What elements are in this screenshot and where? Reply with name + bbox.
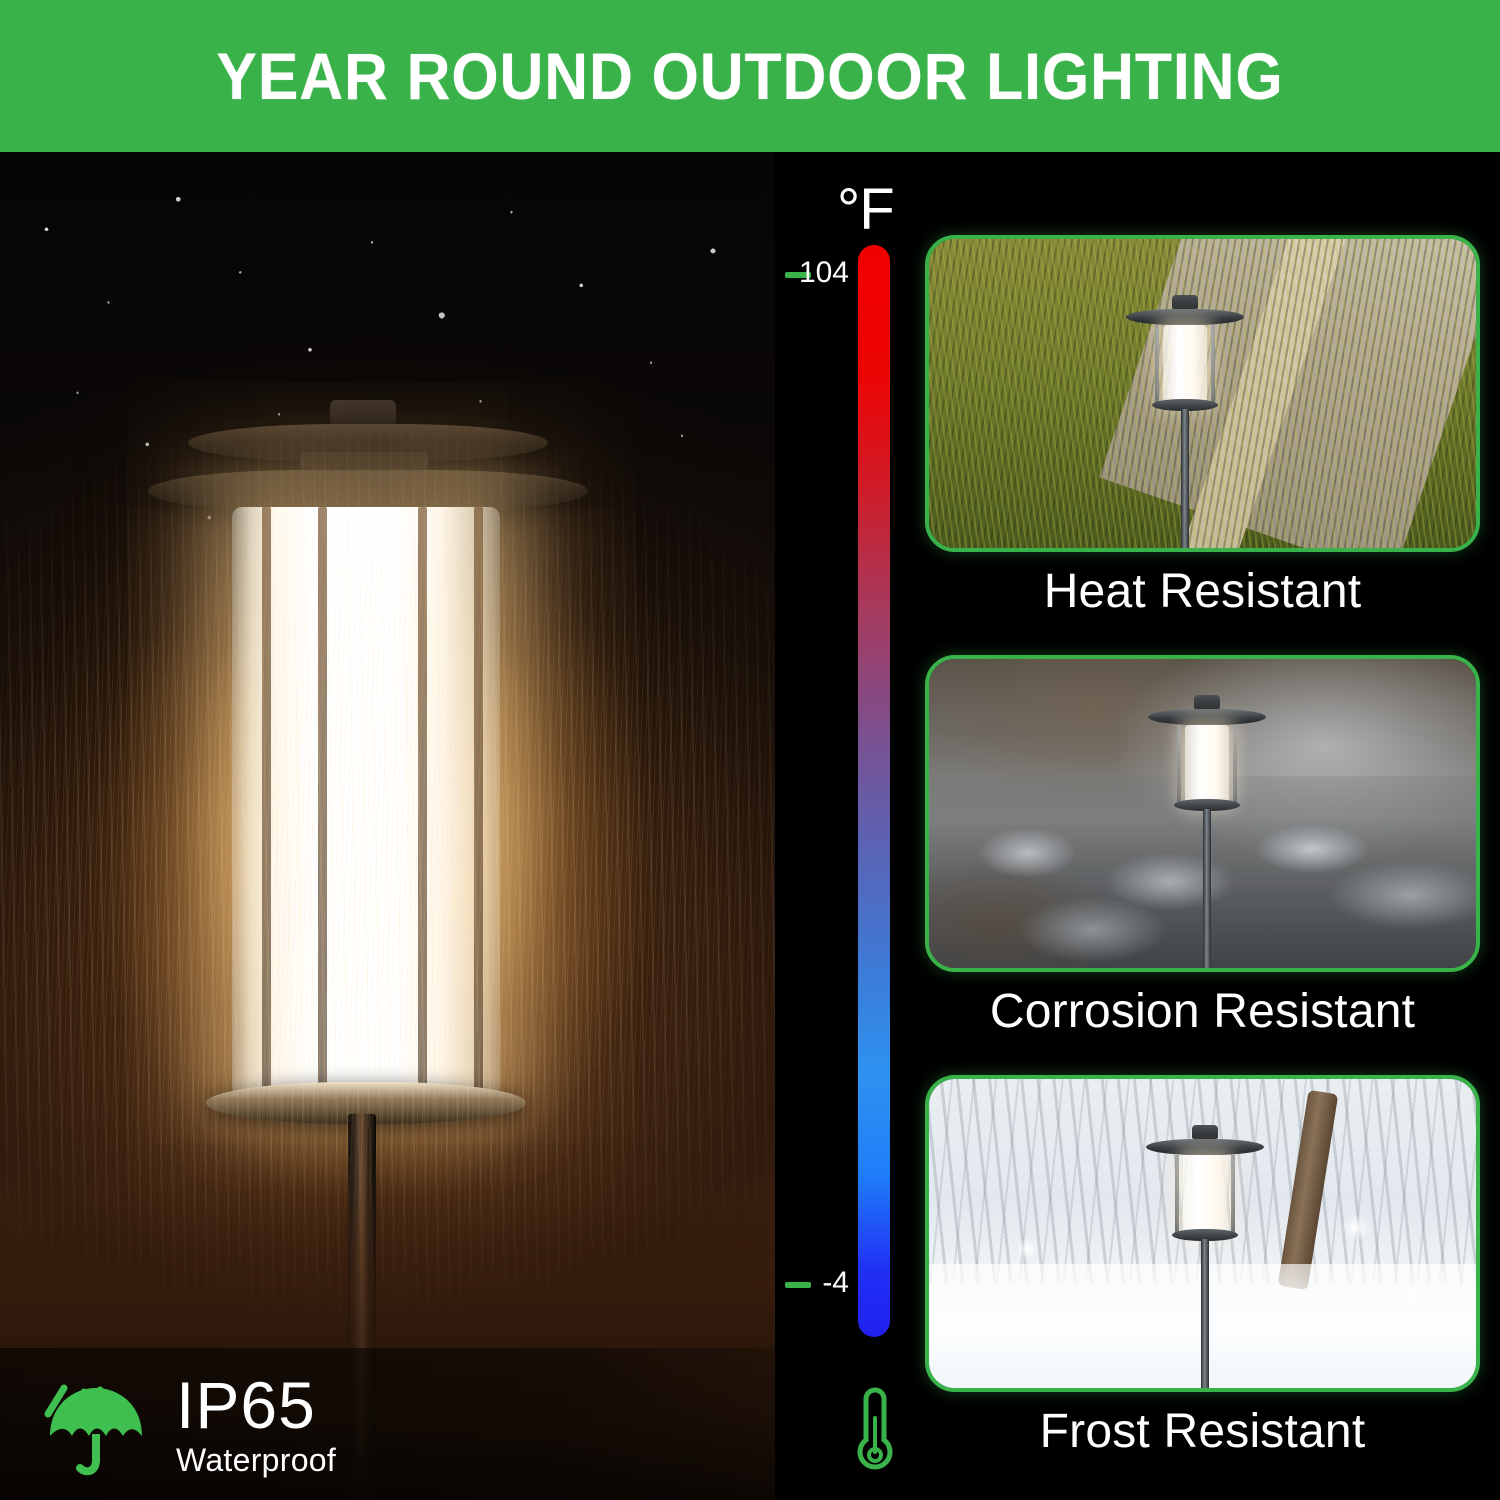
- light-stake: [1203, 809, 1211, 972]
- light-cage-rib: [1175, 1155, 1179, 1233]
- light-stake: [1201, 1239, 1209, 1392]
- product-feature-graphic: YEAR ROUND OUTDOOR LIGHTING: [0, 0, 1500, 1500]
- light-cage-rib: [1231, 1155, 1235, 1233]
- feature-photo-frost-resistant: [925, 1075, 1480, 1392]
- light-cap: [1194, 695, 1220, 709]
- feature-card-frost-resistant: Frost Resistant: [925, 1075, 1480, 1459]
- light-disc: [1126, 309, 1244, 325]
- low-temperature-label: -4: [793, 1266, 849, 1300]
- feature-card-corrosion-resistant: Corrosion Resistant: [925, 655, 1480, 1039]
- feature-label-heat-resistant: Heat Resistant: [925, 564, 1480, 619]
- thermometer-icon: [851, 1384, 899, 1476]
- header-banner: YEAR ROUND OUTDOOR LIGHTING: [0, 0, 1500, 152]
- umbrella-rain-icon: [38, 1372, 150, 1476]
- temperature-scale: °F 104 -4: [775, 152, 925, 1500]
- pathway-light: [1147, 695, 1267, 955]
- feature-label-corrosion-resistant: Corrosion Resistant: [925, 984, 1480, 1039]
- hero-image: IP65 Waterproof: [0, 152, 775, 1500]
- temperature-gradient-bar: [858, 245, 890, 1337]
- light-diffuser: [1163, 325, 1207, 403]
- light-cage-rib: [1155, 325, 1159, 403]
- pathway-light: [1145, 1125, 1265, 1385]
- light-disc: [1146, 1139, 1264, 1155]
- feature-label-frost-resistant: Frost Resistant: [925, 1404, 1480, 1459]
- light-cage-rib: [1211, 325, 1215, 403]
- light-cap: [1172, 295, 1198, 309]
- feature-card-heat-resistant: Heat Resistant: [925, 235, 1480, 619]
- ip65-waterproof-badge: IP65 Waterproof: [0, 1348, 775, 1500]
- light-diffuser: [1183, 1155, 1227, 1233]
- high-temperature-label: 104: [793, 256, 849, 290]
- light-diffuser: [1185, 725, 1229, 803]
- banner-title: YEAR ROUND OUTDOOR LIGHTING: [216, 38, 1283, 114]
- temperature-unit-label: °F: [837, 176, 894, 243]
- feature-photo-corrosion-resistant: [925, 655, 1480, 972]
- light-stake: [1181, 409, 1189, 552]
- feature-cards: Heat Resistant Corrosion Resistant: [925, 152, 1500, 1500]
- light-cap: [1192, 1125, 1218, 1139]
- light-cage-rib: [1233, 725, 1237, 803]
- ip-rating-code: IP65: [176, 1372, 336, 1438]
- light-cage-rib: [1177, 725, 1181, 803]
- ip-rating-subtitle: Waterproof: [176, 1444, 336, 1476]
- light-disc: [1148, 709, 1266, 725]
- pathway-light: [1125, 295, 1245, 535]
- feature-photo-heat-resistant: [925, 235, 1480, 552]
